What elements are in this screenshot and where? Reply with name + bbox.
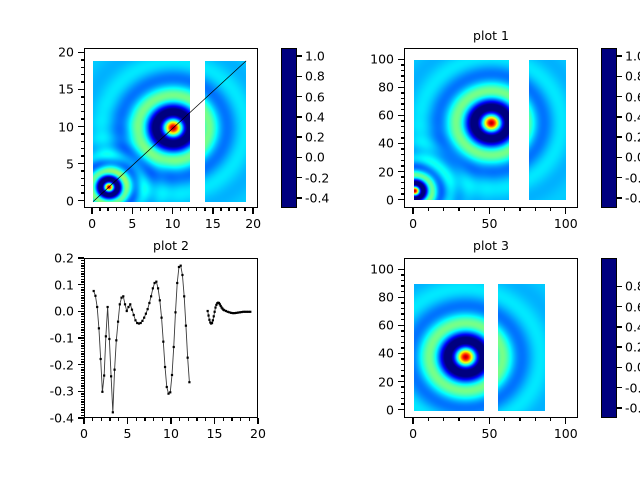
- colorbar-tick-label: 0.6: [625, 299, 640, 314]
- colorbar-tick: [617, 326, 622, 327]
- colorbar-tick-label: -0.2: [625, 380, 640, 395]
- x-tick-minor: [519, 418, 520, 421]
- colorbar-tick-label: 0.8: [625, 279, 640, 294]
- colorbar-tick: [617, 387, 622, 388]
- colorbar-tick: [617, 286, 622, 287]
- x-tick-minor: [565, 418, 566, 421]
- x-tick-label: 0: [409, 426, 417, 441]
- axes-frame: [404, 258, 578, 418]
- y-tick-minor: [401, 353, 404, 354]
- y-tick-minor: [401, 347, 404, 348]
- y-tick-label: 0: [350, 402, 394, 417]
- y-tick-label: 60: [350, 318, 394, 333]
- colorbar: [601, 258, 617, 418]
- colorbar-tick: [617, 306, 622, 307]
- plot-panel-4: plot 30204060801000501000.80.60.40.20.0-…: [0, 0, 640, 480]
- colorbar-tick-label: 0.2: [625, 340, 640, 355]
- y-tick-minor: [401, 280, 404, 281]
- y-tick-minor: [401, 319, 404, 320]
- x-tick-minor: [428, 418, 429, 421]
- y-tick-minor: [401, 291, 404, 292]
- y-tick-minor: [401, 325, 404, 326]
- y-tick-minor: [401, 302, 404, 303]
- y-tick-minor: [401, 342, 404, 343]
- colorbar-tick-label: 0.4: [625, 319, 640, 334]
- y-tick-minor: [401, 381, 404, 382]
- y-tick-minor: [401, 398, 404, 399]
- y-tick-minor: [401, 313, 404, 314]
- y-tick-minor: [401, 274, 404, 275]
- x-tick-minor: [412, 418, 413, 421]
- y-tick-minor: [401, 308, 404, 309]
- y-tick-minor: [401, 375, 404, 376]
- x-tick-minor: [489, 418, 490, 421]
- y-tick-minor: [401, 297, 404, 298]
- y-tick-label: 40: [350, 346, 394, 361]
- colorbar-tick: [617, 346, 622, 347]
- x-tick-minor: [550, 418, 551, 421]
- y-tick-minor: [401, 370, 404, 371]
- heatmap-block: [414, 284, 484, 411]
- colorbar-tick-label: -0.4: [625, 400, 640, 415]
- y-tick-minor: [401, 392, 404, 393]
- y-tick-minor: [401, 403, 404, 404]
- colorbar-tick: [617, 367, 622, 368]
- x-tick-label: 50: [482, 426, 498, 441]
- x-tick-minor: [443, 418, 444, 421]
- colorbar-tick-label: 0.0: [625, 360, 640, 375]
- y-tick-minor: [401, 386, 404, 387]
- y-tick-label: 20: [350, 374, 394, 389]
- y-tick-label: 100: [350, 262, 394, 277]
- x-tick-minor: [474, 418, 475, 421]
- y-tick-minor: [401, 409, 404, 410]
- y-tick-label: 80: [350, 290, 394, 305]
- heatmap-block: [498, 284, 545, 411]
- x-tick-minor: [458, 418, 459, 421]
- panel-title: plot 3: [364, 238, 618, 253]
- figure-canvas: 05101520051015201.00.80.60.40.20.0-0.2-0…: [0, 0, 640, 480]
- x-tick-label: 100: [554, 426, 578, 441]
- y-tick-minor: [401, 358, 404, 359]
- colorbar-tick: [617, 407, 622, 408]
- y-tick-minor: [401, 330, 404, 331]
- y-tick-minor: [401, 336, 404, 337]
- y-tick-minor: [401, 364, 404, 365]
- y-tick-minor: [401, 285, 404, 286]
- x-tick-minor: [535, 418, 536, 421]
- x-tick-minor: [504, 418, 505, 421]
- y-tick-minor: [401, 269, 404, 270]
